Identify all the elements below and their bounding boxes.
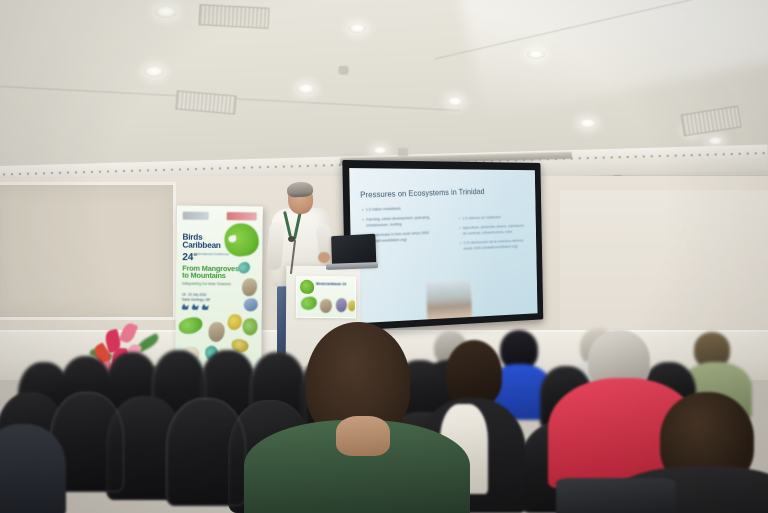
- bird-illustration-dove: [336, 298, 347, 312]
- slide-bullet: 1.5 million inhabitants: [362, 205, 439, 213]
- shoulders: [0, 424, 66, 513]
- banner-title: Birds Caribbean: [182, 234, 220, 250]
- bird-illustration-parrot: [300, 296, 318, 311]
- presenter-hand: [318, 252, 330, 263]
- downlight: [155, 6, 177, 18]
- bird-illustration-flycatcher: [241, 278, 258, 298]
- chair-edge-highlight: [166, 398, 246, 506]
- downlight: [297, 84, 315, 94]
- neck: [336, 416, 390, 456]
- wall-panel: [0, 182, 176, 320]
- laptop-screen: [331, 234, 376, 266]
- edition-number-value: 24: [182, 252, 193, 263]
- downlight: [579, 119, 596, 128]
- downlight: [144, 66, 164, 77]
- slide-bullet: Farming, urban development, quarrying, i…: [362, 214, 440, 229]
- screen-surface: Pressures on Ecosystems in Trinidad 1.5 …: [349, 168, 537, 324]
- bird-silhouette-icon: [192, 304, 199, 310]
- sponsor-logo-right-icon: [227, 212, 257, 220]
- sponsor-logo-left-icon: [183, 212, 209, 220]
- banner-location: Santo Domingo, DR: [182, 297, 210, 302]
- conference-room-photo: Pressures on Ecosystems in Trinidad 1.5 …: [0, 0, 768, 513]
- bird-illustration-thrush: [320, 299, 332, 313]
- podium-sign: BirdsCaribbean 24: [296, 276, 356, 319]
- podium-parrot-logo-icon: [300, 280, 314, 294]
- bird-silhouette-icon: [182, 304, 189, 310]
- head: [446, 340, 502, 406]
- banner-bird-silhouette-icons: [182, 304, 209, 310]
- slide-bullet: 17% disminución de la cobertura arbórea …: [460, 238, 528, 252]
- bird-illustration-bluebird: [243, 297, 259, 312]
- banner-tagline: Safeguarding Our Avian Treasures: [182, 282, 231, 287]
- bird-illustration-parrot: [177, 315, 204, 335]
- downlight: [527, 50, 545, 59]
- hvac-vent: [681, 106, 742, 137]
- downlight: [708, 137, 723, 145]
- banner-title-line2: Caribbean: [182, 241, 220, 249]
- microphone-head: [288, 236, 295, 242]
- downlight: [373, 147, 387, 154]
- screen-ceiling-mount: [398, 148, 408, 156]
- hvac-vent: [198, 4, 269, 29]
- sprinkler-head: [339, 66, 348, 73]
- podium-sign-text: BirdsCaribbean 24: [316, 282, 346, 286]
- downlight: [447, 97, 463, 106]
- wall-right-section: [560, 190, 768, 350]
- slide-bullet: Agricultura, desarrollo urbano, explotac…: [459, 223, 527, 237]
- shoulders: [556, 478, 676, 513]
- slide-embedded-photo: [426, 281, 473, 324]
- bird-illustration-warbler: [226, 313, 243, 331]
- presenter-hair: [287, 181, 314, 198]
- slide-bullet: 1.5 millones de habitantes: [459, 214, 527, 222]
- banner-dates-location: 18 - 22 July 2024 Santo Domingo, DR: [182, 293, 210, 303]
- slide-right-column: 1.5 millones de habitantes Agricultura, …: [459, 214, 528, 256]
- banner-sponsor-logos: [183, 210, 257, 223]
- bird-illustration-parakeet: [242, 318, 259, 336]
- hvac-vent: [175, 90, 236, 114]
- bird-illustration-thrush: [208, 321, 226, 342]
- banner-edition-label: International Conference: [195, 252, 229, 257]
- bird-silhouette-icon: [202, 304, 209, 310]
- downlight: [349, 24, 366, 33]
- banner-theme: From Mangroves to Mountains: [182, 265, 239, 280]
- bird-illustration-warbler: [348, 300, 356, 311]
- rollup-banner: Birds Caribbean 24th International Confe…: [175, 206, 263, 369]
- banner-theme-line2: to Mountains: [182, 272, 239, 280]
